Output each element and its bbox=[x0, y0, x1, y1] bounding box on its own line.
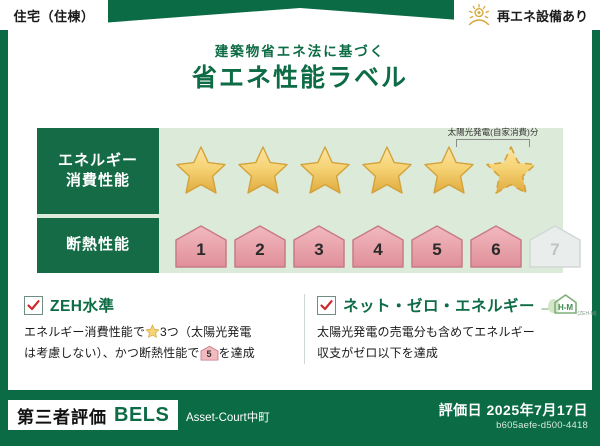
footer-bar: 第三者評価 BELS Asset-Court中町 評価日 2025年7月17日 … bbox=[0, 390, 600, 446]
performance-panel: エネルギー 消費性能 太陽光発電(自家消費)分 bbox=[37, 128, 563, 273]
star-filled bbox=[421, 143, 477, 199]
criterion-net-zero-energy: ネット・ゼロ・エネルギー H-M (ZEH-M) 太陽光発電の売電分も含めてエネ… bbox=[304, 294, 584, 364]
zeh-m-mark-icon: H-M (ZEH-M) bbox=[540, 291, 598, 319]
insulation-level-house: 1 bbox=[173, 224, 229, 268]
sun-renewable-icon bbox=[466, 3, 492, 27]
renewable-equipment-label: 再エネ設備あり bbox=[497, 6, 588, 25]
criterion-nze-header: ネット・ゼロ・エネルギー H-M (ZEH-M) bbox=[317, 294, 584, 316]
building-type-label: 住宅（住棟） bbox=[13, 6, 94, 25]
heading-subtitle: 建築物省エネ法に基づく bbox=[0, 44, 600, 60]
star-filled bbox=[173, 143, 229, 199]
renewable-equipment-tag: 再エネ設備あり bbox=[454, 0, 600, 30]
inline-house-badge-icon: 5 bbox=[200, 345, 219, 361]
insulation-level-number: 1 bbox=[173, 224, 229, 268]
insulation-level-number: 7 bbox=[527, 224, 583, 268]
criterion-zeh-header: ZEH水準 bbox=[24, 294, 304, 316]
energy-label-line1: エネルギー bbox=[58, 151, 138, 171]
solar-self-consumption-note: 太陽光発電(自家消費)分 bbox=[429, 126, 557, 147]
insulation-rating-area: 1 2 3 4 5 bbox=[159, 218, 563, 273]
solar-note-text: 太陽光発電(自家消費)分 bbox=[429, 126, 557, 138]
solar-note-bracket bbox=[456, 139, 530, 147]
insulation-level-number: 3 bbox=[291, 224, 347, 268]
energy-rating-area: 太陽光発電(自家消費)分 bbox=[159, 128, 563, 214]
criteria-section: ZEH水準 エネルギー消費性能で3つ（太陽光発電 は考慮しない）、かつ断熱性能で… bbox=[24, 294, 584, 364]
checkbox-zeh-standard[interactable] bbox=[24, 296, 43, 315]
star-filled bbox=[359, 143, 415, 199]
heading-title: 省エネ性能ラベル bbox=[0, 65, 600, 93]
criterion-nze-body: 太陽光発電の売電分も含めてエネルギー 収支がゼロ以下を達成 bbox=[317, 322, 584, 364]
insulation-level-house-inactive: 7 bbox=[527, 224, 583, 268]
insulation-performance-row: 断熱性能 1 2 3 bbox=[37, 218, 563, 273]
zeh-mark-text: H-M bbox=[558, 303, 573, 312]
insulation-level-house: 3 bbox=[291, 224, 347, 268]
criterion-zeh-standard: ZEH水準 エネルギー消費性能で3つ（太陽光発電 は考慮しない）、かつ断熱性能で… bbox=[24, 294, 304, 364]
energy-star-rating bbox=[173, 143, 539, 199]
label-heading: 建築物省エネ法に基づく 省エネ性能ラベル bbox=[0, 44, 600, 93]
checkbox-net-zero-energy[interactable] bbox=[317, 296, 336, 315]
inline-star-icon bbox=[145, 324, 160, 339]
star-filled bbox=[235, 143, 291, 199]
criterion-zeh-body-line2-post: を達成 bbox=[219, 346, 255, 360]
insulation-label: 断熱性能 bbox=[66, 235, 130, 255]
insulation-level-scale: 1 2 3 4 5 bbox=[173, 224, 583, 268]
criterion-zeh-body-line2-pre: は考慮しない）、かつ断熱性能で bbox=[24, 346, 200, 360]
energy-performance-row: エネルギー 消費性能 太陽光発電(自家消費)分 bbox=[37, 128, 563, 214]
criterion-zeh-body: エネルギー消費性能で3つ（太陽光発電 は考慮しない）、かつ断熱性能で5を達成 bbox=[24, 322, 304, 364]
bels-en-label: BELS bbox=[114, 404, 169, 427]
insulation-level-house: 6 bbox=[468, 224, 524, 268]
criterion-zeh-body-pre: エネルギー消費性能で bbox=[24, 325, 145, 339]
criterion-nze-body-line1: 太陽光発電の売電分も含めてエネルギー bbox=[317, 325, 535, 339]
evaluation-id: b605aefe-d500-4418 bbox=[496, 420, 588, 431]
evaluation-date: 評価日 2025年7月17日 bbox=[439, 400, 588, 420]
criterion-zeh-title: ZEH水準 bbox=[50, 294, 115, 316]
building-type-tag: 住宅（住棟） bbox=[0, 0, 108, 30]
energy-performance-label-box: エネルギー 消費性能 bbox=[37, 128, 159, 214]
insulation-level-number: 4 bbox=[350, 224, 406, 268]
insulation-level-house: 5 bbox=[409, 224, 465, 268]
energy-performance-label: 住宅（住棟） 再エネ設備あり 建築物省エネ法に基づく bbox=[0, 0, 600, 446]
criterion-nze-body-line2: 収支がゼロ以下を達成 bbox=[317, 346, 438, 360]
insulation-level-number: 2 bbox=[232, 224, 288, 268]
bels-certification-badge: 第三者評価 BELS bbox=[8, 400, 178, 430]
building-name: Asset-Court中町 bbox=[186, 409, 270, 425]
insulation-level-house: 4 bbox=[350, 224, 406, 268]
criterion-zeh-star-count: 3つ（太陽光発電 bbox=[160, 325, 251, 339]
insulation-level-number: 6 bbox=[468, 224, 524, 268]
bels-jp-label: 第三者評価 bbox=[17, 403, 107, 428]
insulation-level-number: 5 bbox=[409, 224, 465, 268]
star-filled bbox=[297, 143, 353, 199]
insulation-performance-label-box: 断熱性能 bbox=[37, 218, 159, 273]
zeh-mark-sub: (ZEH-M) bbox=[577, 311, 596, 317]
energy-label-line2: 消費性能 bbox=[66, 171, 130, 191]
insulation-level-house: 2 bbox=[232, 224, 288, 268]
inline-house-level: 5 bbox=[200, 345, 219, 361]
star-solar-dashed bbox=[483, 143, 539, 199]
criterion-nze-title: ネット・ゼロ・エネルギー bbox=[343, 294, 535, 316]
